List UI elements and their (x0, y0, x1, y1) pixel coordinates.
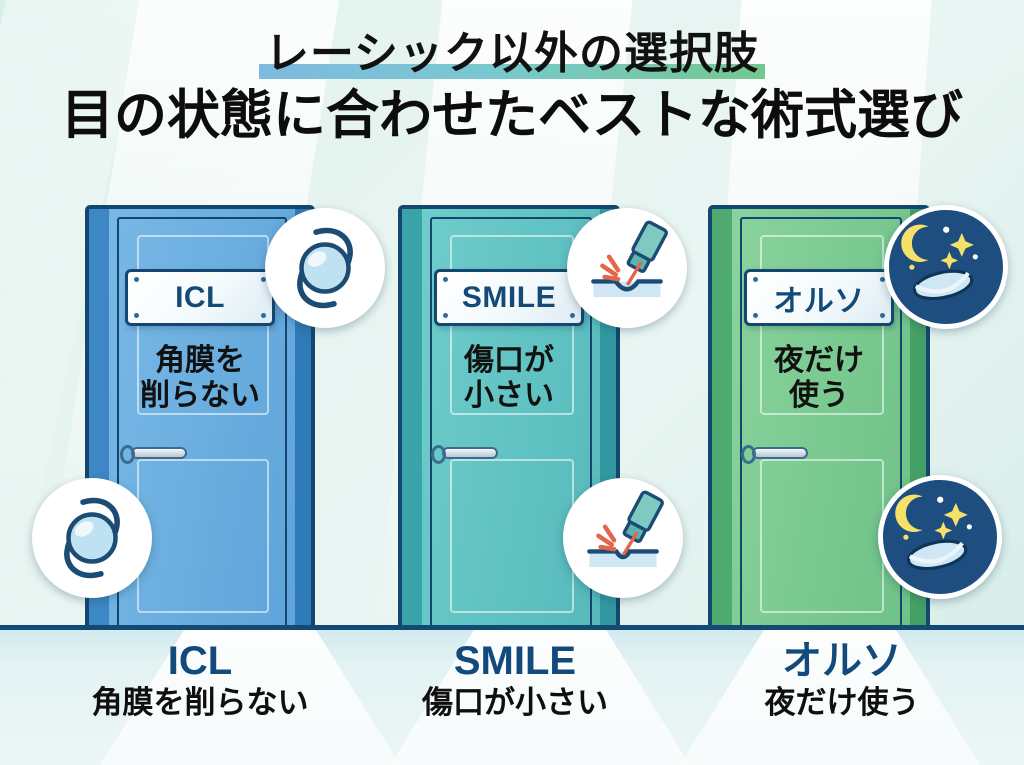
title-line-2: 目の状態に合わせたベストな術式選び (0, 88, 1024, 144)
door-handle-ortho[interactable] (752, 447, 808, 459)
door-jamb-left-smile (402, 209, 422, 627)
screw-icon (443, 277, 448, 282)
caption-subtitle-smile: 傷口が小さい (345, 686, 685, 720)
night-lens-icon (889, 210, 993, 314)
door-text-ortho: 夜だけ 使う (708, 343, 930, 414)
screw-icon (134, 277, 139, 282)
laser-cornea-icon (571, 212, 683, 324)
door-sign-label-ortho: オルソ (773, 276, 865, 320)
badge-icl-lens-bottom (32, 478, 152, 598)
title-block: レーシック以外の選択肢 目の状態に合わせたベストな術式選び (0, 30, 1024, 144)
door-sign-label-smile: SMILE (462, 281, 556, 315)
caption-subtitle-icl: 角膜を削らない (30, 686, 370, 720)
laser-cornea-icon (567, 482, 679, 594)
door-panel-bottom-ortho (760, 459, 884, 613)
screw-icon (261, 313, 266, 318)
door-text-line1-icl: 角膜を (85, 343, 315, 378)
door-handle-icl[interactable] (131, 447, 187, 459)
door-text-line2-ortho: 使う (708, 378, 930, 413)
infographic-canvas: レーシック以外の選択肢 目の状態に合わせたベストな術式選び ICL (0, 0, 1024, 765)
screw-icon (753, 277, 758, 282)
door-text-smile: 傷口が 小さい (398, 343, 620, 414)
door-text-line1-smile: 傷口が (398, 343, 620, 378)
icl-lens-icon (269, 212, 381, 324)
badge-laser-bottom (563, 478, 683, 598)
screw-icon (134, 313, 139, 318)
door-text-icl: 角膜を 削らない (85, 343, 315, 414)
door-sign-smile: SMILE (434, 269, 584, 326)
night-lens-icon (883, 480, 987, 584)
door-jamb-left-ortho (712, 209, 732, 627)
caption-title-ortho: オルソ (672, 640, 1012, 682)
door-sign-icl: ICL (125, 269, 275, 326)
badge-laser-top (567, 208, 687, 328)
door-sign-ortho: オルソ (744, 269, 894, 326)
screw-icon (880, 313, 885, 318)
caption-ortho: オルソ 夜だけ使う (672, 640, 1012, 720)
badge-night-bottom (878, 475, 1002, 599)
caption-subtitle-ortho: 夜だけ使う (672, 686, 1012, 720)
door-handle-smile[interactable] (442, 447, 498, 459)
badge-icl-lens-top (265, 208, 385, 328)
title-line-1-wrapper: レーシック以外の選択肢 (265, 30, 759, 78)
screw-icon (753, 313, 758, 318)
screw-icon (570, 313, 575, 318)
badge-night-top (884, 205, 1008, 329)
caption-title-icl: ICL (30, 640, 370, 682)
door-sign-label-icl: ICL (175, 281, 225, 315)
screw-icon (443, 313, 448, 318)
door-panel-bottom-smile (450, 459, 574, 613)
door-text-line2-icl: 削らない (85, 378, 315, 413)
icl-lens-icon (36, 482, 148, 594)
caption-icl: ICL 角膜を削らない (30, 640, 370, 720)
caption-smile: SMILE 傷口が小さい (345, 640, 685, 720)
door-text-line1-ortho: 夜だけ (708, 343, 930, 378)
title-line-1: レーシック以外の選択肢 (265, 29, 759, 78)
floor-baseline (0, 625, 1024, 630)
door-panel-bottom-icl (137, 459, 269, 613)
caption-title-smile: SMILE (345, 640, 685, 682)
door-text-line2-smile: 小さい (398, 378, 620, 413)
